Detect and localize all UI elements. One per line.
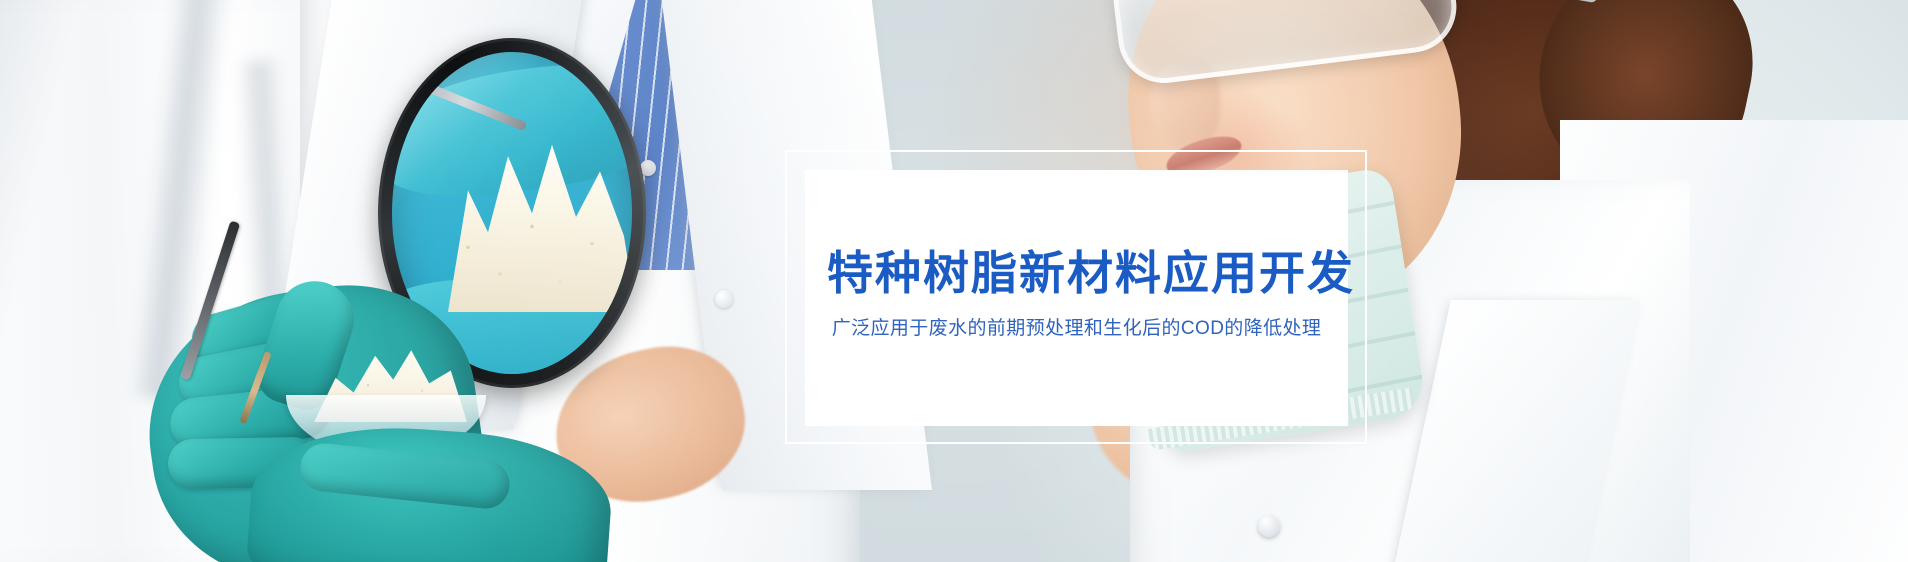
- lab-coat-button: [715, 290, 733, 308]
- banner-title: 特种树脂新材料应用开发: [827, 246, 1326, 300]
- hero-banner: 特种树脂新材料应用开发 广泛应用于废水的前期预处理和生化后的COD的降低处理: [0, 0, 1908, 562]
- woman-lab-coat-button: [1258, 515, 1280, 537]
- text-panel-content: 特种树脂新材料应用开发 广泛应用于废水的前期预处理和生化后的COD的降低处理: [805, 170, 1348, 426]
- text-panel: 特种树脂新材料应用开发 广泛应用于废水的前期预处理和生化后的COD的降低处理: [805, 170, 1348, 426]
- banner-subtitle: 广泛应用于废水的前期预处理和生化后的COD的降低处理: [827, 316, 1326, 343]
